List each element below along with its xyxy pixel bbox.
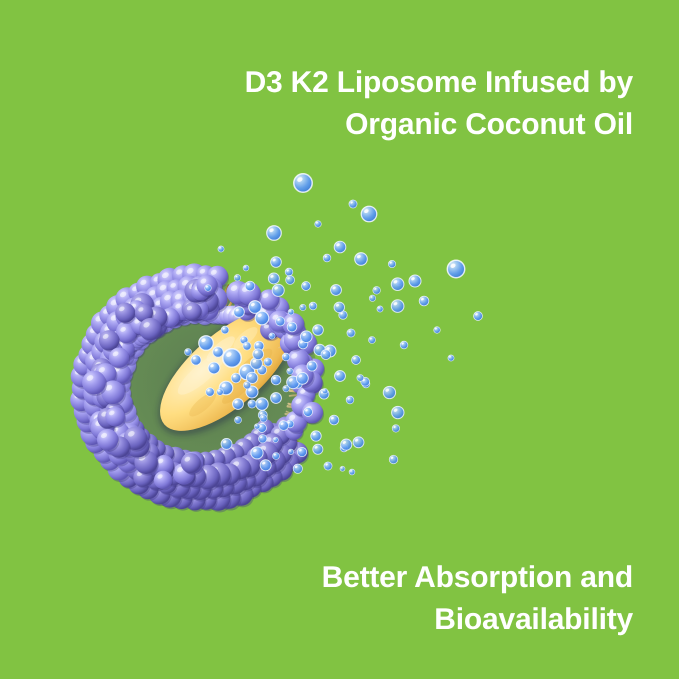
top-headline-line-1: D3 K2 Liposome Infused by — [245, 62, 633, 104]
top-headline-line-2: Organic Coconut Oil — [245, 104, 633, 146]
bottom-headline-line-1: Better Absorption and — [322, 557, 633, 599]
bottom-headline: Better Absorption and Bioavailability — [322, 557, 633, 641]
bottom-headline-line-2: Bioavailability — [322, 599, 633, 641]
top-headline: D3 K2 Liposome Infused by Organic Coconu… — [245, 62, 633, 146]
liposome-product-graphic: D3 K2 Liposome Infused by Organic Coconu… — [0, 0, 679, 679]
